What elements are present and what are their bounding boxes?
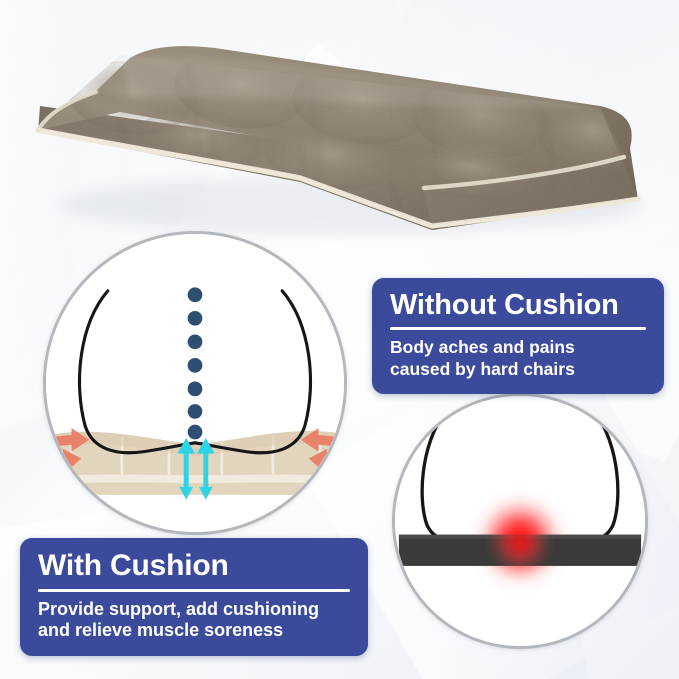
callout-with-subtitle-line-1: Provide support, add cushioning [38, 599, 350, 621]
pain-glow-overlay [491, 513, 550, 572]
without-cushion-diagram [392, 393, 648, 649]
callout-with-cushion: With Cushion Provide support, add cushio… [20, 538, 368, 656]
callout-without-subtitle: Body aches and pains caused by hard chai… [390, 337, 646, 380]
infographic-canvas: Without Cushion Body aches and pains cau… [0, 0, 679, 679]
callout-with-title: With Cushion [38, 550, 350, 582]
callout-with-subtitle-line-2: and relieve muscle soreness [38, 620, 350, 642]
callout-with-subtitle: Provide support, add cushioning and reli… [38, 599, 350, 643]
callout-with-divider [38, 589, 350, 592]
callout-without-title: Without Cushion [390, 290, 646, 320]
callout-without-subtitle-line-1: Body aches and pains [390, 337, 646, 358]
callout-without-subtitle-line-2: caused by hard chairs [390, 359, 646, 380]
callout-without-cushion: Without Cushion Body aches and pains cau… [372, 278, 664, 394]
cushion-product-photo [0, 0, 679, 250]
with-cushion-diagram [43, 231, 347, 535]
callout-without-divider [390, 327, 646, 330]
